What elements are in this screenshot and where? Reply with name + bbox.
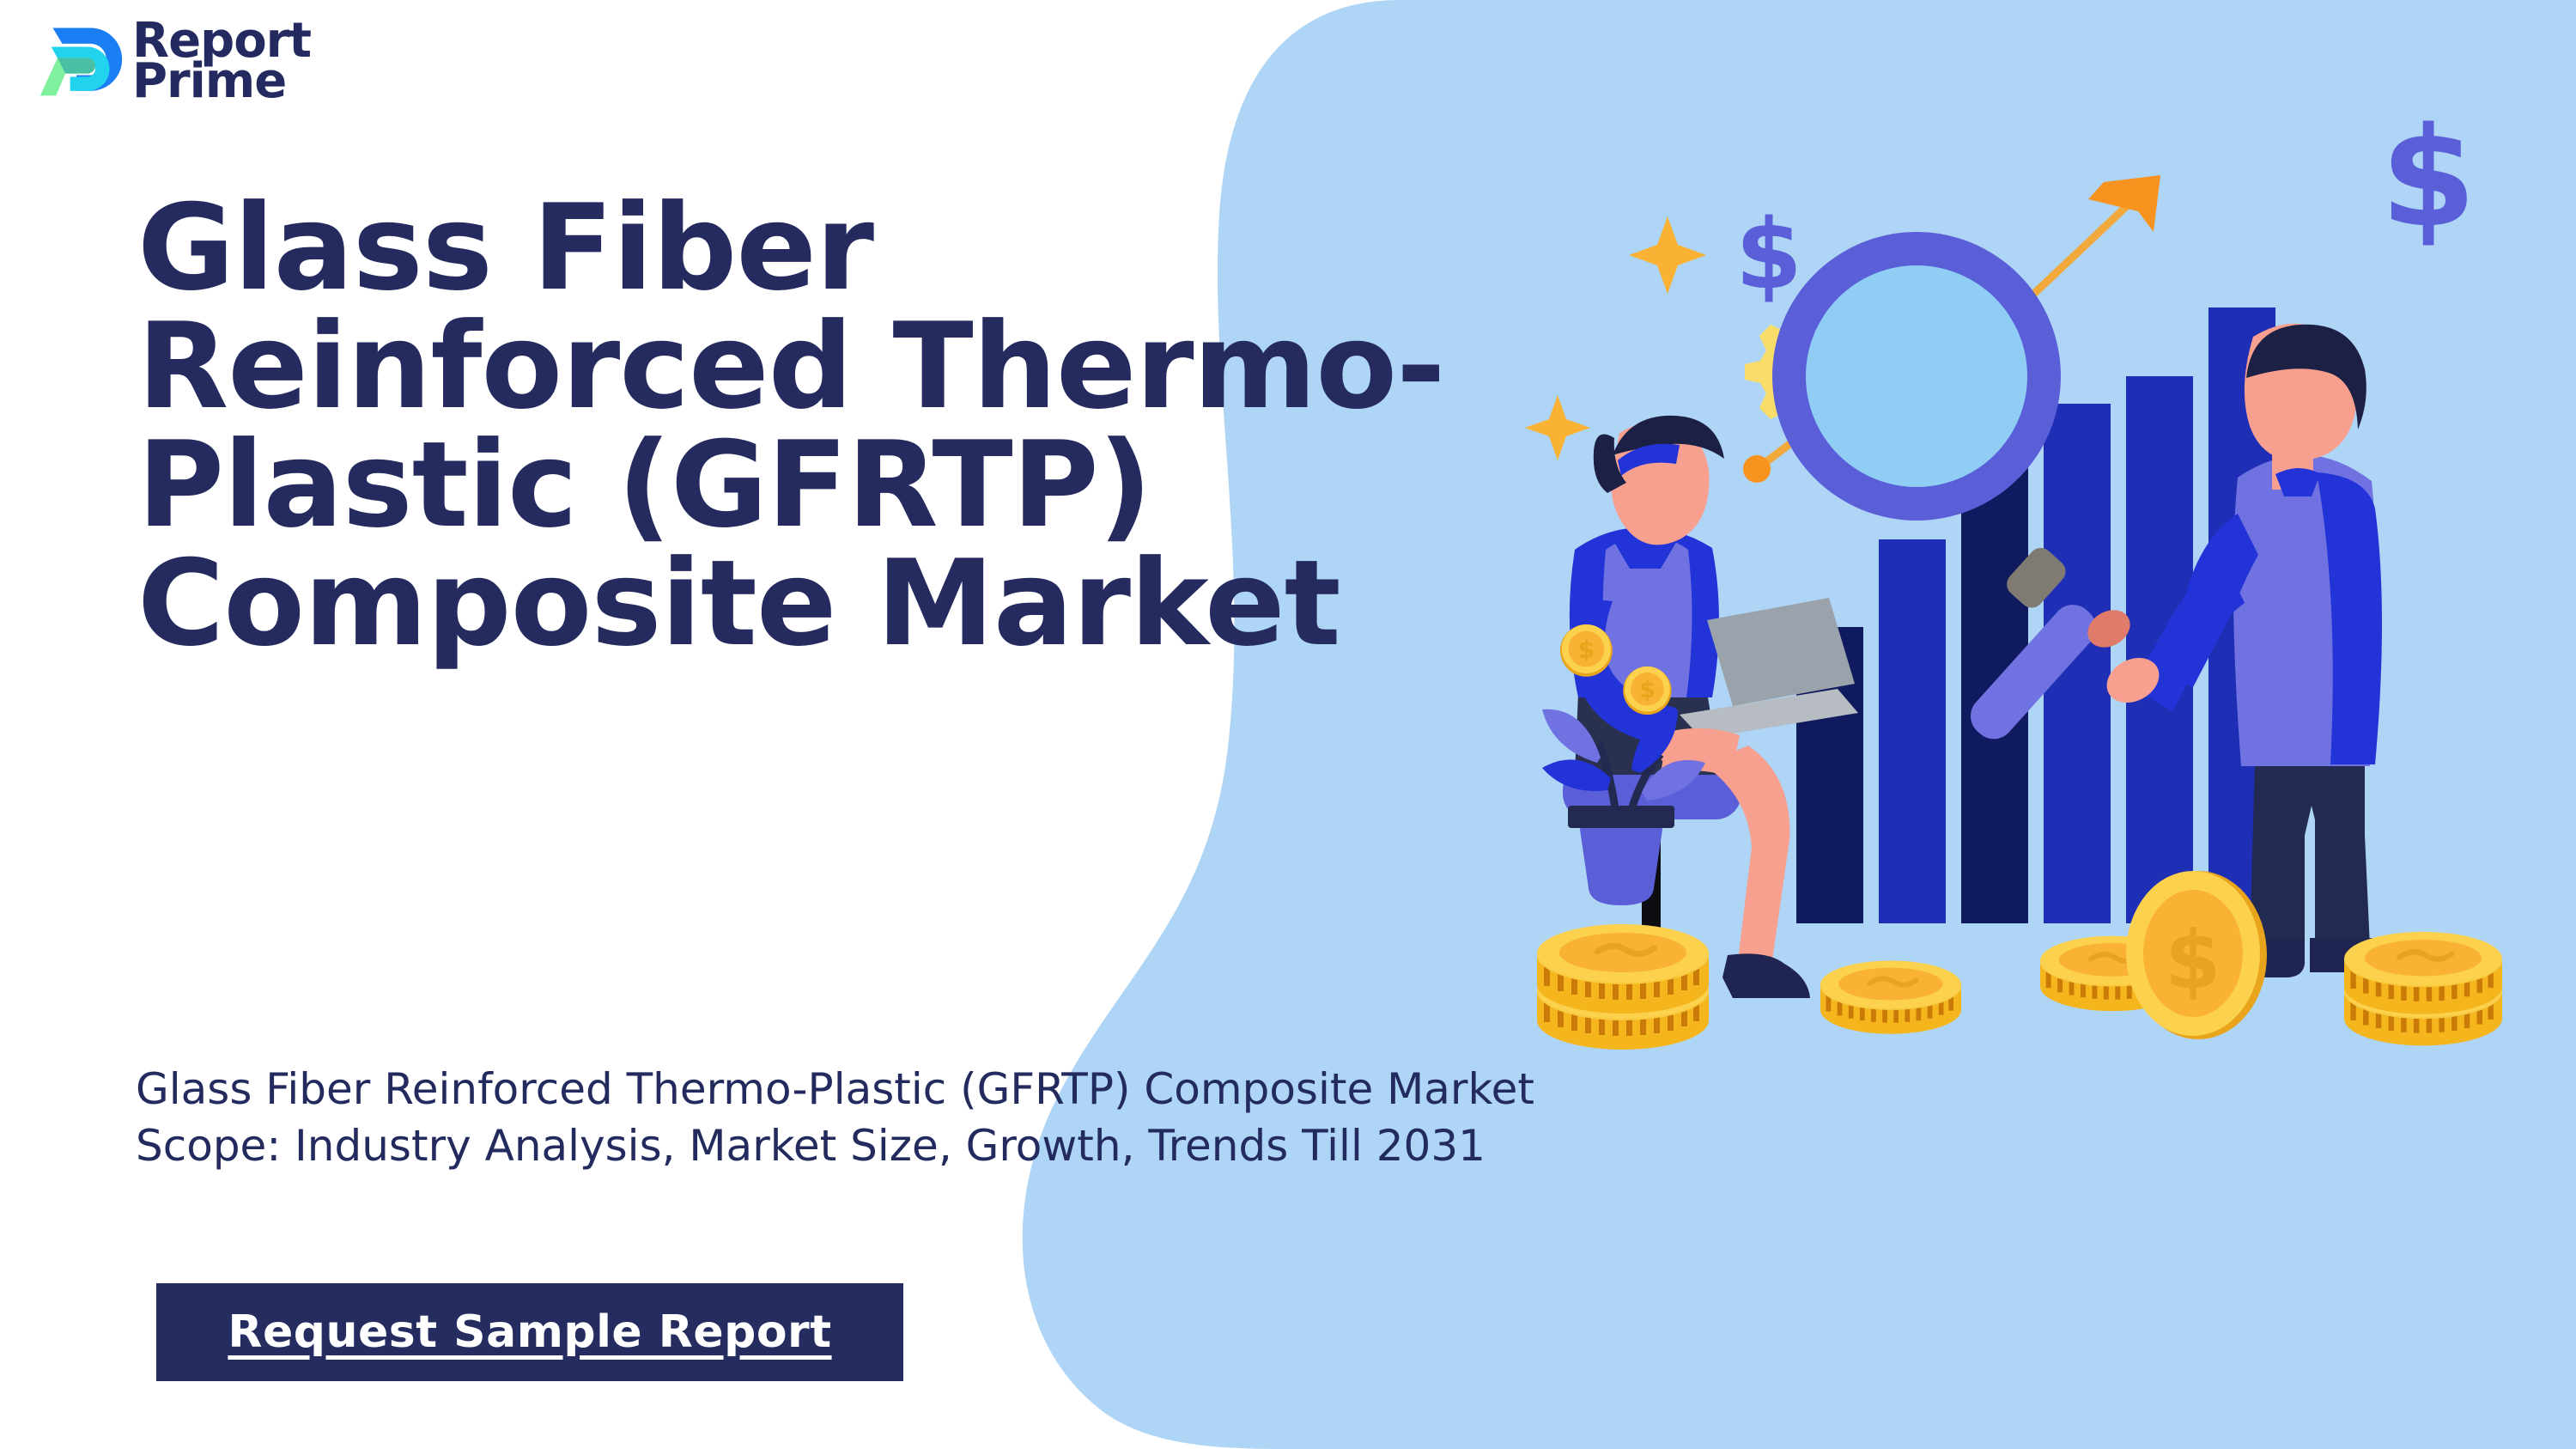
coin-stack (1820, 960, 1961, 1033)
coin-stack (1537, 924, 1709, 1050)
leg (2255, 761, 2305, 952)
market-research-illustration: $ $ $ (1511, 86, 2576, 1065)
brand-wordmark: Report Prime (132, 21, 311, 101)
dollar-sign-icon: $ (1735, 199, 1802, 311)
leg (2315, 761, 2365, 952)
report-prime-logo-icon (29, 14, 124, 108)
sparkle-icon (1629, 216, 1706, 294)
coin-upright: $ (2126, 871, 2267, 1039)
page-title: Glass Fiber Reinforced Thermo-Plastic (G… (137, 189, 1614, 663)
request-sample-report-label: Request Sample Report (228, 1306, 831, 1358)
pot (1578, 818, 1664, 905)
brand-name-line2: Prime (132, 61, 311, 101)
bar (1879, 539, 1946, 923)
brand-logo[interactable]: Report Prime (29, 14, 311, 108)
page-subtitle: Glass Fiber Reinforced Thermo-Plastic (G… (136, 1061, 1595, 1174)
pot-rim (1568, 806, 1674, 828)
svg-text:$: $ (2165, 914, 2221, 1008)
request-sample-report-button[interactable]: Request Sample Report (156, 1283, 903, 1381)
hero-banner: $ $ $ (0, 0, 2576, 1449)
coin-stack (2344, 932, 2502, 1045)
dollar-sign-icon: $ (2380, 97, 2476, 258)
